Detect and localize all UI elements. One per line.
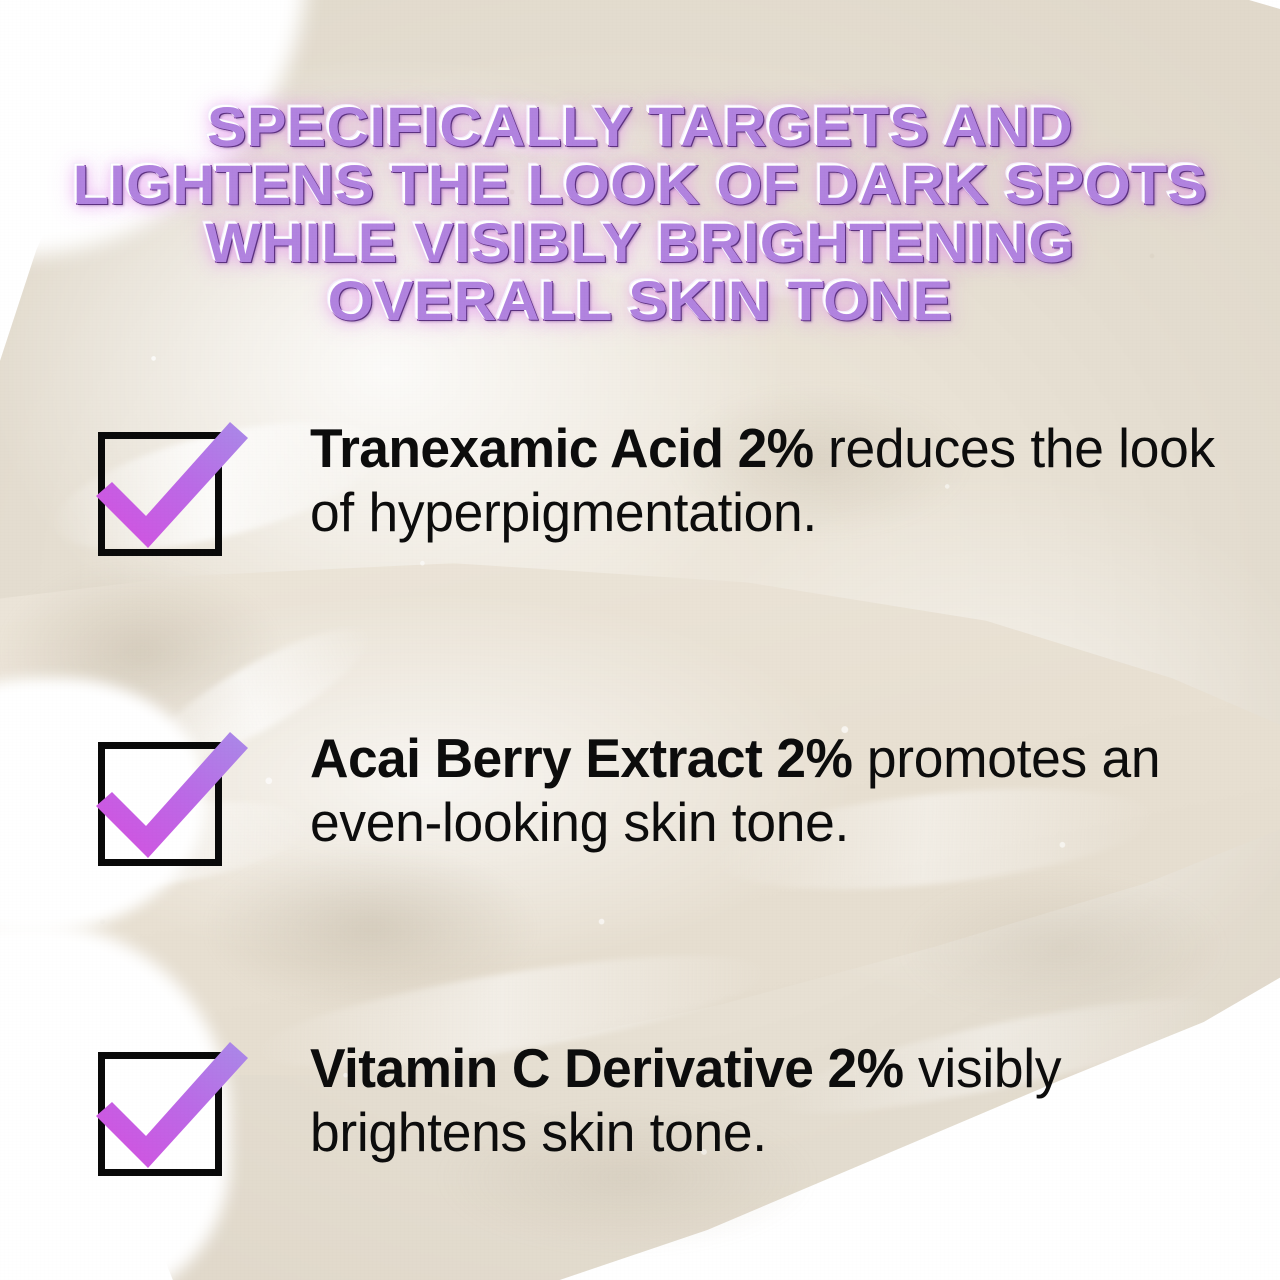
benefit-text: Tranexamic Acid 2% reduces the look of h… [310,416,1251,544]
benefits-list: Tranexamic Acid 2% reduces the look of h… [0,410,1280,1280]
checkbox-3[interactable] [98,1052,222,1176]
checkmark-icon [104,726,254,876]
ingredient-name: Acai Berry Extract 2% [310,727,852,789]
ingredient-name: Tranexamic Acid 2% [310,417,814,479]
checkmark-icon [104,416,254,566]
headline-line-3: WHILE VISIBLY BRIGHTENING [0,214,1280,272]
headline-line-1: SPECIFICALLY TARGETS AND [0,98,1280,156]
checkbox-1[interactable] [98,432,222,556]
benefit-text: Vitamin C Derivative 2% visibly brighten… [310,1036,1251,1164]
benefit-item: Acai Berry Extract 2% promotes an even-l… [0,720,1280,1030]
benefit-item: Vitamin C Derivative 2% visibly brighten… [0,1030,1280,1280]
promo-graphic: SPECIFICALLY TARGETS AND LIGHTENS THE LO… [0,0,1280,1280]
benefit-item: Tranexamic Acid 2% reduces the look of h… [0,410,1280,720]
headline: SPECIFICALLY TARGETS AND LIGHTENS THE LO… [0,98,1280,330]
checkbox-2[interactable] [98,742,222,866]
headline-line-4: OVERALL SKIN TONE [0,272,1280,330]
headline-line-2: LIGHTENS THE LOOK OF DARK SPOTS [0,156,1280,214]
checkmark-icon [104,1036,254,1186]
benefit-text: Acai Berry Extract 2% promotes an even-l… [310,726,1251,854]
ingredient-name: Vitamin C Derivative 2% [310,1037,904,1099]
